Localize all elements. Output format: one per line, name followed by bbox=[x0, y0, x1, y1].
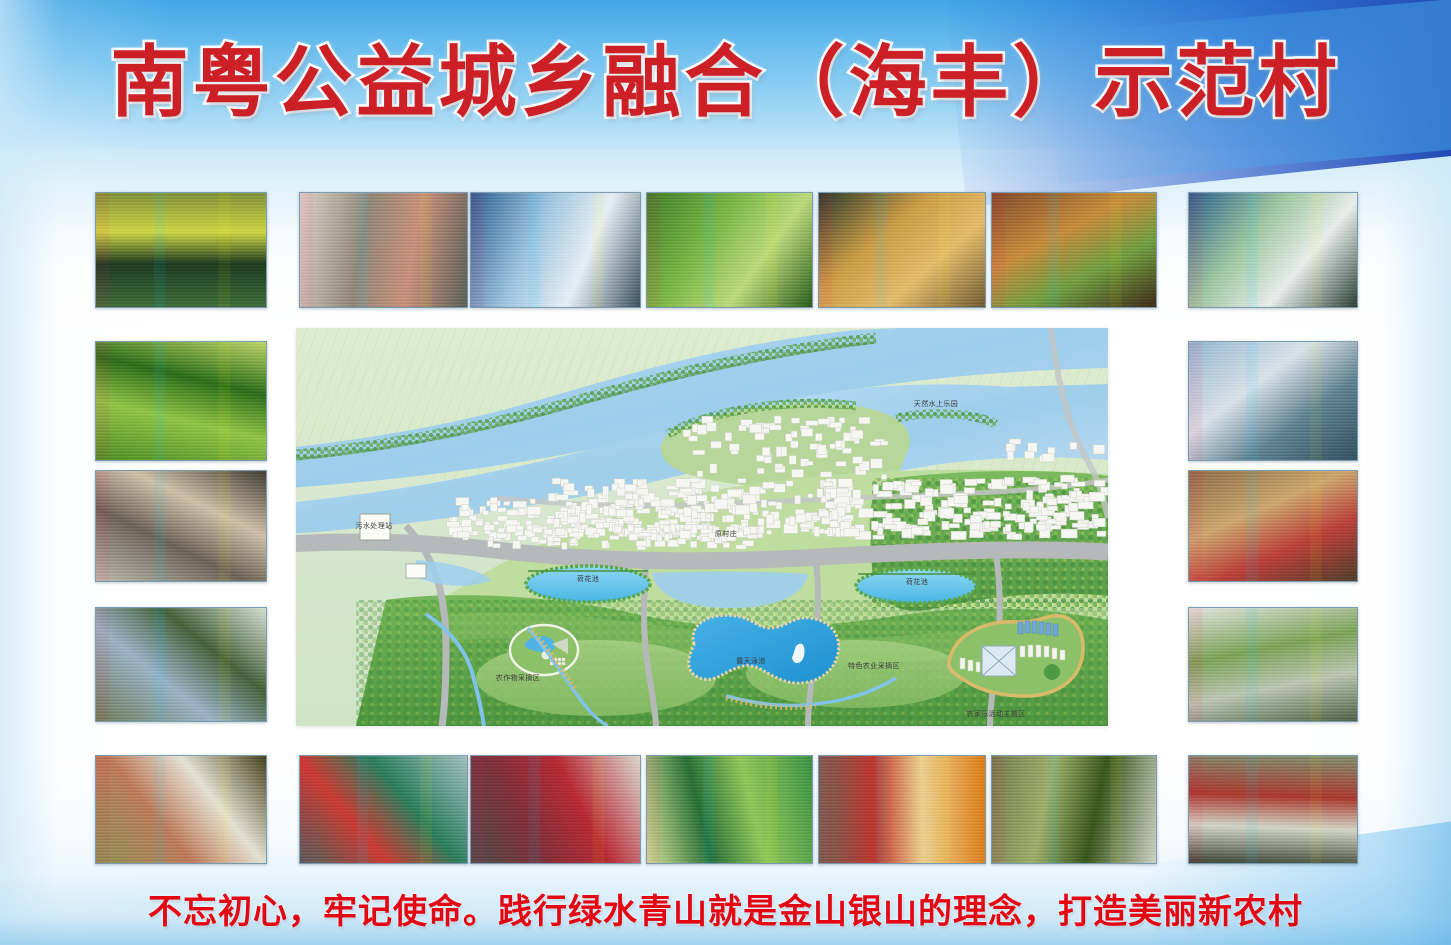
pavilion-walk-photo[interactable] bbox=[1188, 607, 1358, 722]
map-label-1: 污水处理站 bbox=[356, 521, 393, 530]
photo-scanlines bbox=[96, 193, 266, 307]
old-houses-photo[interactable] bbox=[95, 470, 267, 582]
photo-scanlines bbox=[992, 756, 1156, 863]
map-label-3: 荷花池 bbox=[577, 574, 599, 583]
photo-scanlines bbox=[647, 756, 812, 863]
country-lane-photo[interactable] bbox=[991, 755, 1157, 864]
photo-scanlines bbox=[1189, 608, 1357, 721]
photo-scanlines bbox=[1189, 471, 1357, 581]
photo-scanlines bbox=[96, 342, 266, 460]
waterwheel-photo[interactable] bbox=[818, 192, 986, 308]
photo-scanlines bbox=[471, 193, 640, 307]
riverside-village-photo[interactable] bbox=[1188, 341, 1358, 461]
photo-scanlines bbox=[96, 608, 266, 721]
green-forest-photo[interactable] bbox=[646, 192, 813, 308]
terraced-field-photo[interactable] bbox=[646, 755, 813, 864]
map-label-8: 农家乐活动主题区 bbox=[966, 709, 1025, 718]
map-label-2: 原村庄 bbox=[715, 529, 737, 538]
map-label-4: 荷花池 bbox=[906, 577, 928, 586]
photo-scanlines bbox=[96, 756, 266, 863]
photo-scanlines bbox=[819, 193, 985, 307]
poster-canvas: 南粤公益城乡融合（海丰）示范村 bbox=[0, 0, 1451, 945]
map-label-5: 露天泳池 bbox=[736, 656, 766, 665]
master-plan-svg: 天然水上乐园污水处理站原村庄荷花池荷花池露天泳池农作物采摘区特色农业采摘区农家乐… bbox=[296, 328, 1108, 726]
river-bridge-photo[interactable] bbox=[95, 607, 267, 722]
photo-scanlines bbox=[96, 471, 266, 581]
photo-scanlines bbox=[471, 756, 640, 863]
photo-scanlines bbox=[300, 756, 467, 863]
master-plan-map: 天然水上乐园污水处理站原村庄荷花池荷花池露天泳池农作物采摘区特色农业采摘区农家乐… bbox=[296, 328, 1108, 726]
market-street-photo[interactable] bbox=[1188, 470, 1358, 582]
vegetable-garden-photo[interactable] bbox=[95, 341, 267, 461]
photo-scanlines bbox=[819, 756, 985, 863]
photo-scanlines bbox=[1189, 342, 1357, 460]
poster-slogan: 不忘初心，牢记使命。践行绿水青山就是金山银山的理念，打造美丽新农村 bbox=[0, 895, 1451, 929]
photo-scanlines bbox=[992, 193, 1156, 307]
village-hall-photo[interactable] bbox=[1188, 192, 1358, 308]
mountain-field-photo[interactable] bbox=[95, 192, 267, 308]
temple-roof-photo[interactable] bbox=[1188, 755, 1358, 864]
village-pavilion-photo[interactable] bbox=[299, 192, 468, 308]
village-road-photo[interactable] bbox=[299, 755, 468, 864]
rice-paddy-photo[interactable] bbox=[95, 755, 267, 864]
map-label-7: 特色农业采摘区 bbox=[848, 661, 900, 670]
photo-scanlines bbox=[300, 193, 467, 307]
river-walkway-photo[interactable] bbox=[470, 192, 641, 308]
map-label-0: 天然水上乐园 bbox=[914, 399, 958, 408]
wooden-pavilion-photo[interactable] bbox=[991, 192, 1157, 308]
photo-scanlines bbox=[1189, 756, 1357, 863]
poster-title: 南粤公益城乡融合（海丰）示范村 bbox=[0, 44, 1451, 122]
children-activity-photo[interactable] bbox=[818, 755, 986, 864]
photo-scanlines bbox=[647, 193, 812, 307]
map-label-6: 农作物采摘区 bbox=[496, 673, 540, 682]
photo-scanlines bbox=[1189, 193, 1357, 307]
festival-stage-photo[interactable] bbox=[470, 755, 641, 864]
